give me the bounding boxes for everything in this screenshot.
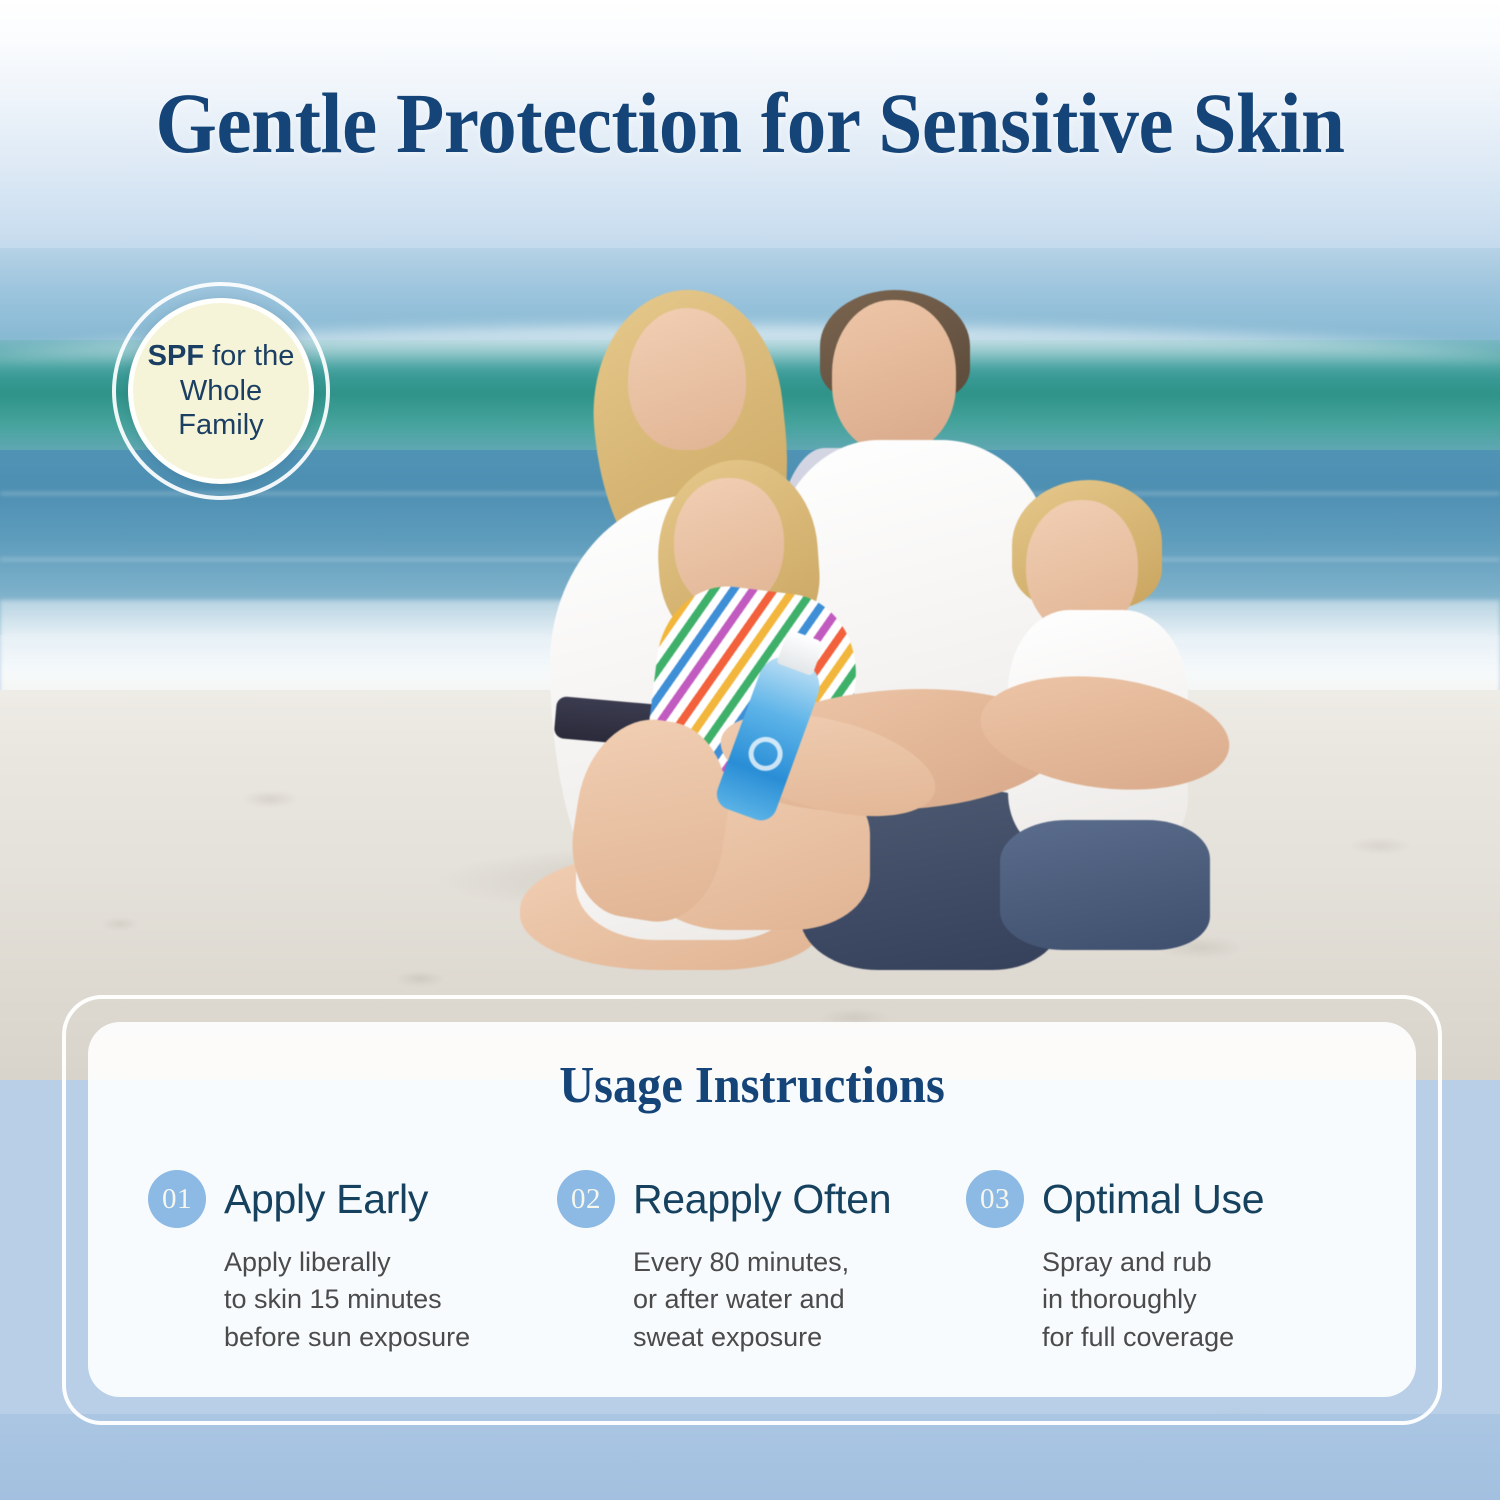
step-item: 03 Optimal Use Spray and rub in thorough… xyxy=(966,1170,1356,1356)
step-number-badge: 01 xyxy=(148,1170,206,1228)
step-title: Apply Early xyxy=(224,1176,428,1223)
step-title: Optimal Use xyxy=(1042,1176,1264,1223)
page-title: Gentle Protection for Sensitive Skin xyxy=(60,78,1440,168)
step-number-badge: 02 xyxy=(557,1170,615,1228)
spf-badge: SPF for the Whole Family xyxy=(112,282,330,500)
step-description: Every 80 minutes, or after water and swe… xyxy=(633,1244,947,1356)
steps-list: 01 Apply Early Apply liberally to skin 1… xyxy=(148,1170,1356,1356)
step-item: 02 Reapply Often Every 80 minutes, or af… xyxy=(557,1170,947,1356)
poster-canvas: Gentle Protection for Sensitive Skin SPF… xyxy=(0,0,1500,1500)
family-group xyxy=(400,290,1180,920)
step-header: 03 Optimal Use xyxy=(966,1170,1356,1228)
step-header: 02 Reapply Often xyxy=(557,1170,947,1228)
usage-instructions-panel: Usage Instructions 01 Apply Early Apply … xyxy=(88,1022,1416,1397)
step-header: 01 Apply Early xyxy=(148,1170,538,1228)
mother-head xyxy=(628,308,746,450)
step-description: Apply liberally to skin 15 minutes befor… xyxy=(224,1244,538,1356)
bottom-color-band xyxy=(0,1414,1500,1500)
step-title: Reapply Often xyxy=(633,1176,891,1223)
badge-text: SPF for the Whole Family xyxy=(133,339,309,443)
badge-circle: SPF for the Whole Family xyxy=(128,298,314,484)
badge-strong-text: SPF xyxy=(148,340,204,372)
step-item: 01 Apply Early Apply liberally to skin 1… xyxy=(148,1170,538,1356)
father-head xyxy=(832,300,956,452)
son-jeans xyxy=(1000,820,1210,950)
panel-title: Usage Instructions xyxy=(134,1056,1369,1115)
step-number-badge: 03 xyxy=(966,1170,1024,1228)
step-description: Spray and rub in thoroughly for full cov… xyxy=(1042,1244,1356,1356)
